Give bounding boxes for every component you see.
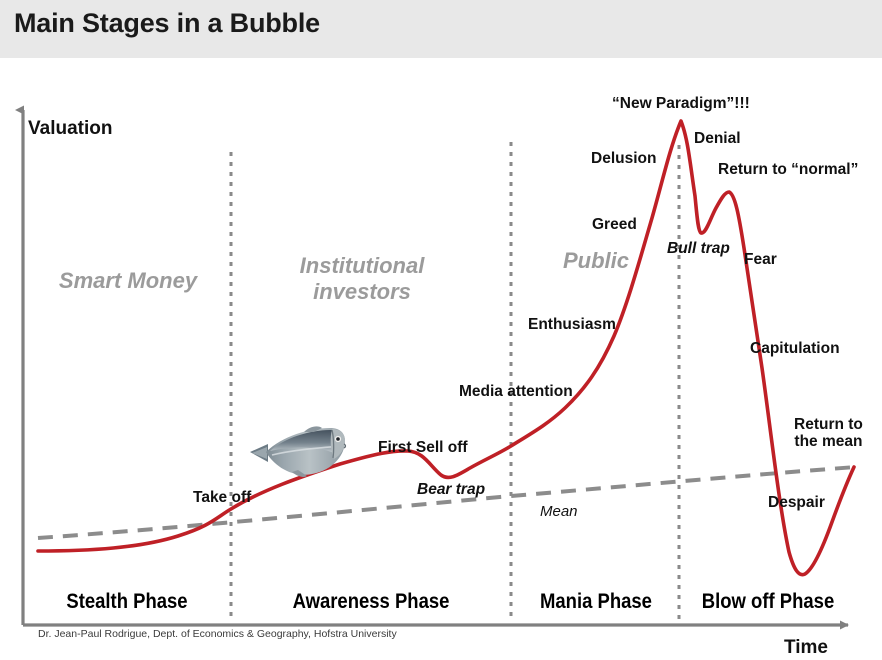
phase-label-mania: Mania Phase — [526, 590, 667, 614]
stage-label-delusion: Delusion — [591, 150, 656, 167]
stage-label-return-to-the-mean: Return tothe mean — [794, 416, 863, 451]
stage-label-return-to-the-mean-line1: Return to — [794, 416, 863, 433]
attribution-text: Dr. Jean-Paul Rodrigue, Dept. of Economi… — [38, 628, 397, 640]
stage-label-despair: Despair — [768, 494, 825, 511]
fish-icon — [250, 426, 346, 477]
actor-label-public: Public — [536, 248, 656, 274]
phase-label-awareness: Awareness Phase — [270, 590, 472, 614]
mean-line-label: Mean — [540, 504, 578, 521]
stage-label-fear: Fear — [744, 251, 777, 268]
stage-label-new-paradigm: “New Paradigm”!!! — [612, 95, 750, 112]
phase-label-blow-off: Blow off Phase — [694, 590, 842, 614]
actor-label-institutional-investors-line1: Institutional — [300, 253, 425, 278]
phase-label-stealth: Stealth Phase — [39, 590, 215, 614]
x-axis-title: Time — [784, 637, 828, 658]
stage-label-capitulation: Capitulation — [750, 340, 840, 357]
stage-label-greed: Greed — [592, 216, 637, 233]
stage-label-take-off: Take off — [193, 489, 251, 506]
stage-label-enthusiasm: Enthusiasm — [528, 316, 616, 333]
bubble-stages-infographic: Main Stages in a Bubble — [0, 0, 882, 660]
stage-label-bear-trap: Bear trap — [417, 481, 485, 498]
stage-label-bull-trap: Bull trap — [667, 240, 730, 257]
actor-label-smart-money: Smart Money — [48, 268, 208, 294]
actor-label-institutional-investors-line2: investors — [313, 279, 411, 304]
stage-label-return-to-normal: Return to “normal” — [718, 161, 858, 178]
stage-label-return-to-the-mean-line2: the mean — [794, 433, 862, 450]
actor-label-institutional-investors: Institutionalinvestors — [282, 253, 442, 304]
bubble-valuation-curve — [38, 121, 854, 575]
stage-label-media-attention: Media attention — [459, 383, 573, 400]
phase-dividers — [231, 142, 679, 622]
y-axis-title: Valuation — [28, 118, 112, 139]
stage-label-first-sell-off: First Sell off — [378, 439, 468, 456]
stage-label-denial: Denial — [694, 130, 741, 147]
